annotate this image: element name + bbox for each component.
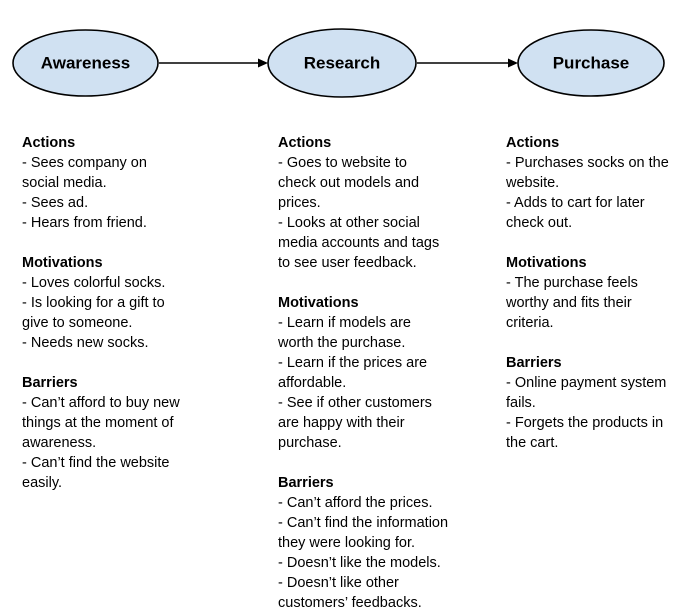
section-actions: Actions- Purchases socks on the website.…: [506, 133, 689, 233]
list-item: - Can’t find the website easily.: [22, 453, 232, 493]
list-item: - Learn if the prices are affordable.: [278, 353, 490, 393]
list-item: - Can’t find the information they were l…: [278, 513, 490, 553]
section-list: - Online payment system fails.- Forgets …: [506, 373, 689, 453]
list-item: - Learn if models are worth the purchase…: [278, 313, 490, 353]
section-list: - Can’t afford to buy new things at the …: [22, 393, 232, 493]
arrow-head-2: [508, 59, 518, 68]
list-item: - Online payment system fails.: [506, 373, 689, 413]
section-barriers: Barriers- Online payment system fails.- …: [506, 353, 689, 453]
list-item: - Can’t afford to buy new things at the …: [22, 393, 232, 453]
section-actions: Actions- Goes to website to check out mo…: [278, 133, 490, 273]
section-list: - Goes to website to check out models an…: [278, 153, 490, 273]
list-item: - Hears from friend.: [22, 213, 232, 233]
flow-svg: Awareness Research Purchase: [0, 0, 699, 125]
journey-column-research: Actions- Goes to website to check out mo…: [250, 133, 506, 613]
list-item: - Forgets the products in the cart.: [506, 413, 689, 453]
arrow-head-1: [258, 59, 268, 68]
list-item: - Adds to cart for later check out.: [506, 193, 689, 233]
customer-journey-flow: Awareness Research Purchase: [0, 0, 699, 125]
section-title: Barriers: [506, 353, 689, 373]
section-list: - Sees company on social media.- Sees ad…: [22, 153, 232, 233]
list-item: - Doesn’t like other customers’ feedback…: [278, 573, 490, 613]
flow-node-research[interactable]: Research: [268, 29, 416, 97]
flow-node-purchase[interactable]: Purchase: [518, 30, 664, 96]
stage-label-awareness: Awareness: [41, 54, 130, 73]
section-title: Motivations: [278, 293, 490, 313]
section-list: - Purchases socks on the website.- Adds …: [506, 153, 689, 233]
journey-column-purchase: Actions- Purchases socks on the website.…: [506, 133, 699, 613]
stage-label-research: Research: [304, 54, 381, 73]
journey-columns: Actions- Sees company on social media.- …: [0, 133, 699, 613]
flow-node-awareness[interactable]: Awareness: [13, 30, 158, 96]
section-motivations: Motivations- Loves colorful socks.- Is l…: [22, 253, 232, 353]
stage-label-purchase: Purchase: [553, 54, 630, 73]
list-item: - Loves colorful socks.: [22, 273, 232, 293]
section-title: Actions: [22, 133, 232, 153]
list-item: - Is looking for a gift to give to someo…: [22, 293, 232, 333]
section-actions: Actions- Sees company on social media.- …: [22, 133, 232, 233]
flow-arrow-awareness-to-research: [159, 59, 268, 68]
section-list: - The purchase feels worthy and fits the…: [506, 273, 689, 333]
section-barriers: Barriers- Can’t afford the prices.- Can’…: [278, 473, 490, 613]
section-list: - Can’t afford the prices.- Can’t find t…: [278, 493, 490, 613]
section-list: - Learn if models are worth the purchase…: [278, 313, 490, 453]
list-item: - Purchases socks on the website.: [506, 153, 689, 193]
list-item: - The purchase feels worthy and fits the…: [506, 273, 689, 333]
section-title: Barriers: [278, 473, 490, 493]
section-motivations: Motivations- Learn if models are worth t…: [278, 293, 490, 453]
list-item: - Looks at other social media accounts a…: [278, 213, 490, 273]
list-item: - Goes to website to check out models an…: [278, 153, 490, 213]
flow-arrow-research-to-purchase: [417, 59, 518, 68]
list-item: - Doesn’t like the models.: [278, 553, 490, 573]
section-title: Actions: [506, 133, 689, 153]
list-item: - Can’t afford the prices.: [278, 493, 490, 513]
list-item: - Needs new socks.: [22, 333, 232, 353]
section-title: Motivations: [506, 253, 689, 273]
section-title: Actions: [278, 133, 490, 153]
section-motivations: Motivations- The purchase feels worthy a…: [506, 253, 689, 333]
section-list: - Loves colorful socks.- Is looking for …: [22, 273, 232, 353]
list-item: - Sees company on social media.: [22, 153, 232, 193]
list-item: - Sees ad.: [22, 193, 232, 213]
section-barriers: Barriers- Can’t afford to buy new things…: [22, 373, 232, 493]
journey-column-awareness: Actions- Sees company on social media.- …: [0, 133, 250, 613]
section-title: Barriers: [22, 373, 232, 393]
section-title: Motivations: [22, 253, 232, 273]
list-item: - See if other customers are happy with …: [278, 393, 490, 453]
